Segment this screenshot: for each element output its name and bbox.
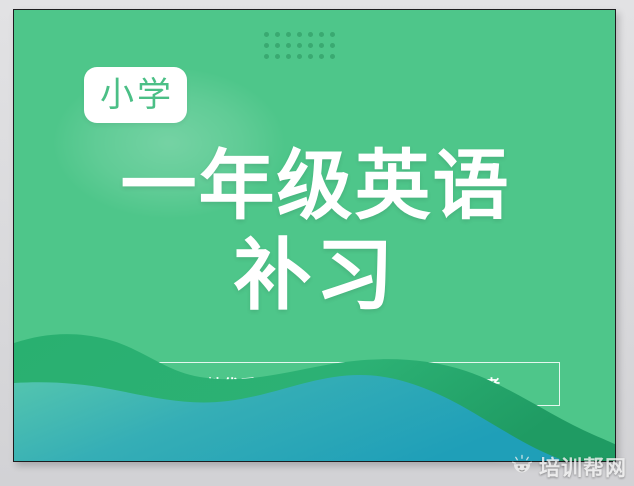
smiley-sun-icon	[511, 454, 533, 480]
dot-icon	[330, 32, 335, 37]
page-title: 一年级英语 补习	[14, 146, 616, 317]
poster-card: 小学 一年级英语 补习 本地优质师资匹配	[13, 9, 616, 462]
feature-item-2: 教研专注中高考	[356, 372, 501, 396]
feature-strip: 本地优质师资匹配 教研专注中高考	[102, 362, 560, 406]
dot-icon	[264, 54, 269, 59]
dot-icon	[275, 54, 280, 59]
dot-icon	[319, 32, 324, 37]
dot-icon	[308, 54, 313, 59]
dot-icon	[297, 54, 302, 59]
level-badge-label: 小学	[97, 78, 174, 112]
feature-item-1: 本地优质师资匹配	[161, 372, 322, 396]
dot-icon	[297, 32, 302, 37]
dot-grid-ornament	[261, 29, 338, 62]
headline-line-1: 一年级英语	[14, 146, 616, 227]
feature-label-2: 教研专注中高考	[385, 372, 501, 396]
watermark-text: 培训帮网	[539, 452, 627, 482]
dot-icon	[275, 43, 280, 48]
dot-icon	[286, 43, 291, 48]
dot-icon	[286, 32, 291, 37]
headline-line-2: 补习	[14, 235, 616, 318]
dot-icon	[275, 32, 280, 37]
dot-icon	[330, 43, 335, 48]
dot-icon	[264, 43, 269, 48]
level-badge: 小学	[84, 67, 187, 123]
check-circle-icon	[356, 374, 376, 394]
dot-icon	[319, 54, 324, 59]
poster-page: 小学 一年级英语 补习 本地优质师资匹配	[0, 0, 634, 486]
dot-icon	[330, 54, 335, 59]
watermark: 培训帮网	[511, 452, 627, 482]
feature-label-1: 本地优质师资匹配	[190, 372, 322, 396]
dot-icon	[297, 43, 302, 48]
check-circle-icon	[161, 374, 181, 394]
dot-icon	[308, 32, 313, 37]
dot-icon	[286, 54, 291, 59]
dot-icon	[308, 43, 313, 48]
dot-icon	[264, 32, 269, 37]
dot-icon	[319, 43, 324, 48]
